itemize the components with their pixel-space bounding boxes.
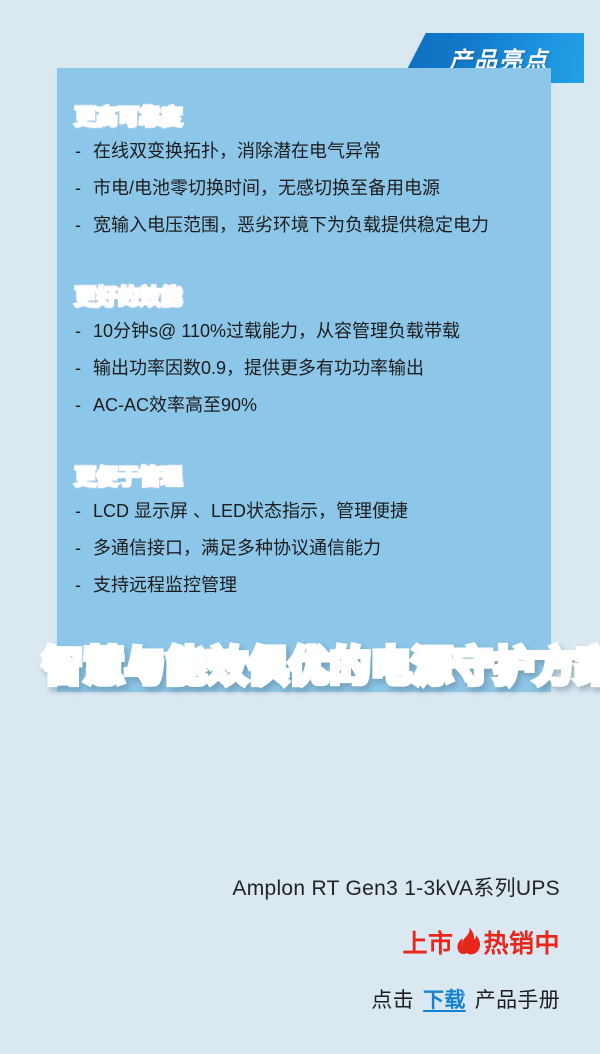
footer: Amplon RT Gen3 1-3kVA系列UPS 上市 热销中 点击 下载 … xyxy=(0,872,560,1014)
bullet-dash: - xyxy=(75,322,81,341)
list-item: -支持远程监控管理 xyxy=(75,576,539,595)
section-performance: 更好的效能 -10分钟s@ 110%过载能力，从容管理负载带载 -输出功率因数0… xyxy=(75,281,539,415)
section-management: 更便于管理 -LCD 显示屏 、LED状态指示，管理便捷 -多通信接口，满足多种… xyxy=(75,461,539,595)
bullet-dash: - xyxy=(75,576,81,595)
list-item-text: LCD 显示屏 、LED状态指示，管理便捷 xyxy=(93,501,408,521)
list-item: -市电/电池零切换时间，无感切换至备用电源 xyxy=(75,179,539,198)
list-item-text: 输出功率因数0.9，提供更多有功功率输出 xyxy=(93,358,424,378)
bullet-dash: - xyxy=(75,179,81,198)
list-item: -宽输入电压范围，恶劣环境下为负载提供稳定电力 xyxy=(75,216,539,235)
list-item-text: 支持远程监控管理 xyxy=(93,575,237,595)
bullet-list: -在线双变换拓扑，消除潜在电气异常 -市电/电池零切换时间，无感切换至备用电源 … xyxy=(75,142,539,235)
product-name: Amplon RT Gen3 1-3kVA系列UPS xyxy=(0,872,560,902)
list-item: -多通信接口，满足多种协议通信能力 xyxy=(75,539,539,558)
bullet-list: -LCD 显示屏 、LED状态指示，管理便捷 -多通信接口，满足多种协议通信能力… xyxy=(75,502,539,595)
flame-icon xyxy=(455,927,481,955)
list-item: -10分钟s@ 110%过载能力，从容管理负载带载 xyxy=(75,322,539,341)
list-item-text: 多通信接口，满足多种协议通信能力 xyxy=(93,538,381,558)
download-prefix-label: 点击 xyxy=(371,989,414,1012)
bullet-dash: - xyxy=(75,359,81,378)
list-item: -输出功率因数0.9，提供更多有功功率输出 xyxy=(75,359,539,378)
download-cta: 点击 下载 产品手册 xyxy=(0,984,560,1014)
list-item-text: 在线双变换拓扑，消除潜在电气异常 xyxy=(93,141,381,161)
headline-slogan: 智慧与能效俱优的电源守护方案 xyxy=(43,634,600,692)
bullet-dash: - xyxy=(75,216,81,235)
list-item-text: 10分钟s@ 110%过载能力，从容管理负载带载 xyxy=(93,321,460,341)
section-heading: 更便于管理 xyxy=(75,461,183,491)
promo-suffix-label: 热销中 xyxy=(483,924,560,960)
list-item: -AC-AC效率高至90% xyxy=(75,396,539,415)
promo-prefix-label: 上市 xyxy=(402,924,453,960)
bullet-dash: - xyxy=(75,396,81,415)
promo-banner: 上市 热销中 xyxy=(0,924,560,960)
section-heading: 更高可靠度 xyxy=(75,101,183,131)
list-item-text: 宽输入电压范围，恶劣环境下为负载提供稳定电力 xyxy=(93,215,489,235)
section-heading: 更好的效能 xyxy=(75,281,183,311)
highlights-card: 更高可靠度 -在线双变换拓扑，消除潜在电气异常 -市电/电池零切换时间，无感切换… xyxy=(57,68,551,692)
bullet-dash: - xyxy=(75,142,81,161)
list-item-text: AC-AC效率高至90% xyxy=(93,395,257,415)
list-item: -在线双变换拓扑，消除潜在电气异常 xyxy=(75,142,539,161)
download-link[interactable]: 下载 xyxy=(420,989,469,1012)
bullet-list: -10分钟s@ 110%过载能力，从容管理负载带载 -输出功率因数0.9，提供更… xyxy=(75,322,539,415)
download-suffix-label: 产品手册 xyxy=(475,989,560,1012)
bullet-dash: - xyxy=(75,502,81,521)
bullet-dash: - xyxy=(75,539,81,558)
list-item-text: 市电/电池零切换时间，无感切换至备用电源 xyxy=(93,178,440,198)
section-reliability: 更高可靠度 -在线双变换拓扑，消除潜在电气异常 -市电/电池零切换时间，无感切换… xyxy=(75,101,539,235)
list-item: -LCD 显示屏 、LED状态指示，管理便捷 xyxy=(75,502,539,521)
